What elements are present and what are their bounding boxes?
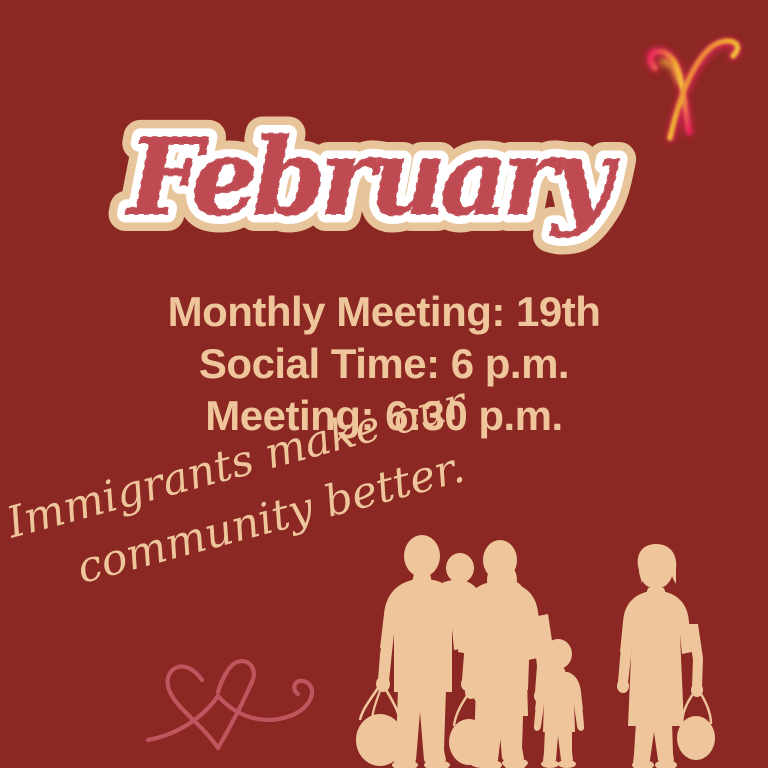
info-line-social-time: Social Time: 6 p.m. [0,338,768,390]
poster-canvas: February February February February Mont… [0,0,768,768]
svg-text:February: February [125,115,620,239]
poster-title: February February February February [0,18,768,278]
immigrant-family-silhouettes [352,520,768,768]
info-line-monthly-meeting: Monthly Meeting: 19th [0,286,768,338]
figure-woman-right [617,544,715,768]
heart-swirl-flourish-icon [140,630,350,750]
